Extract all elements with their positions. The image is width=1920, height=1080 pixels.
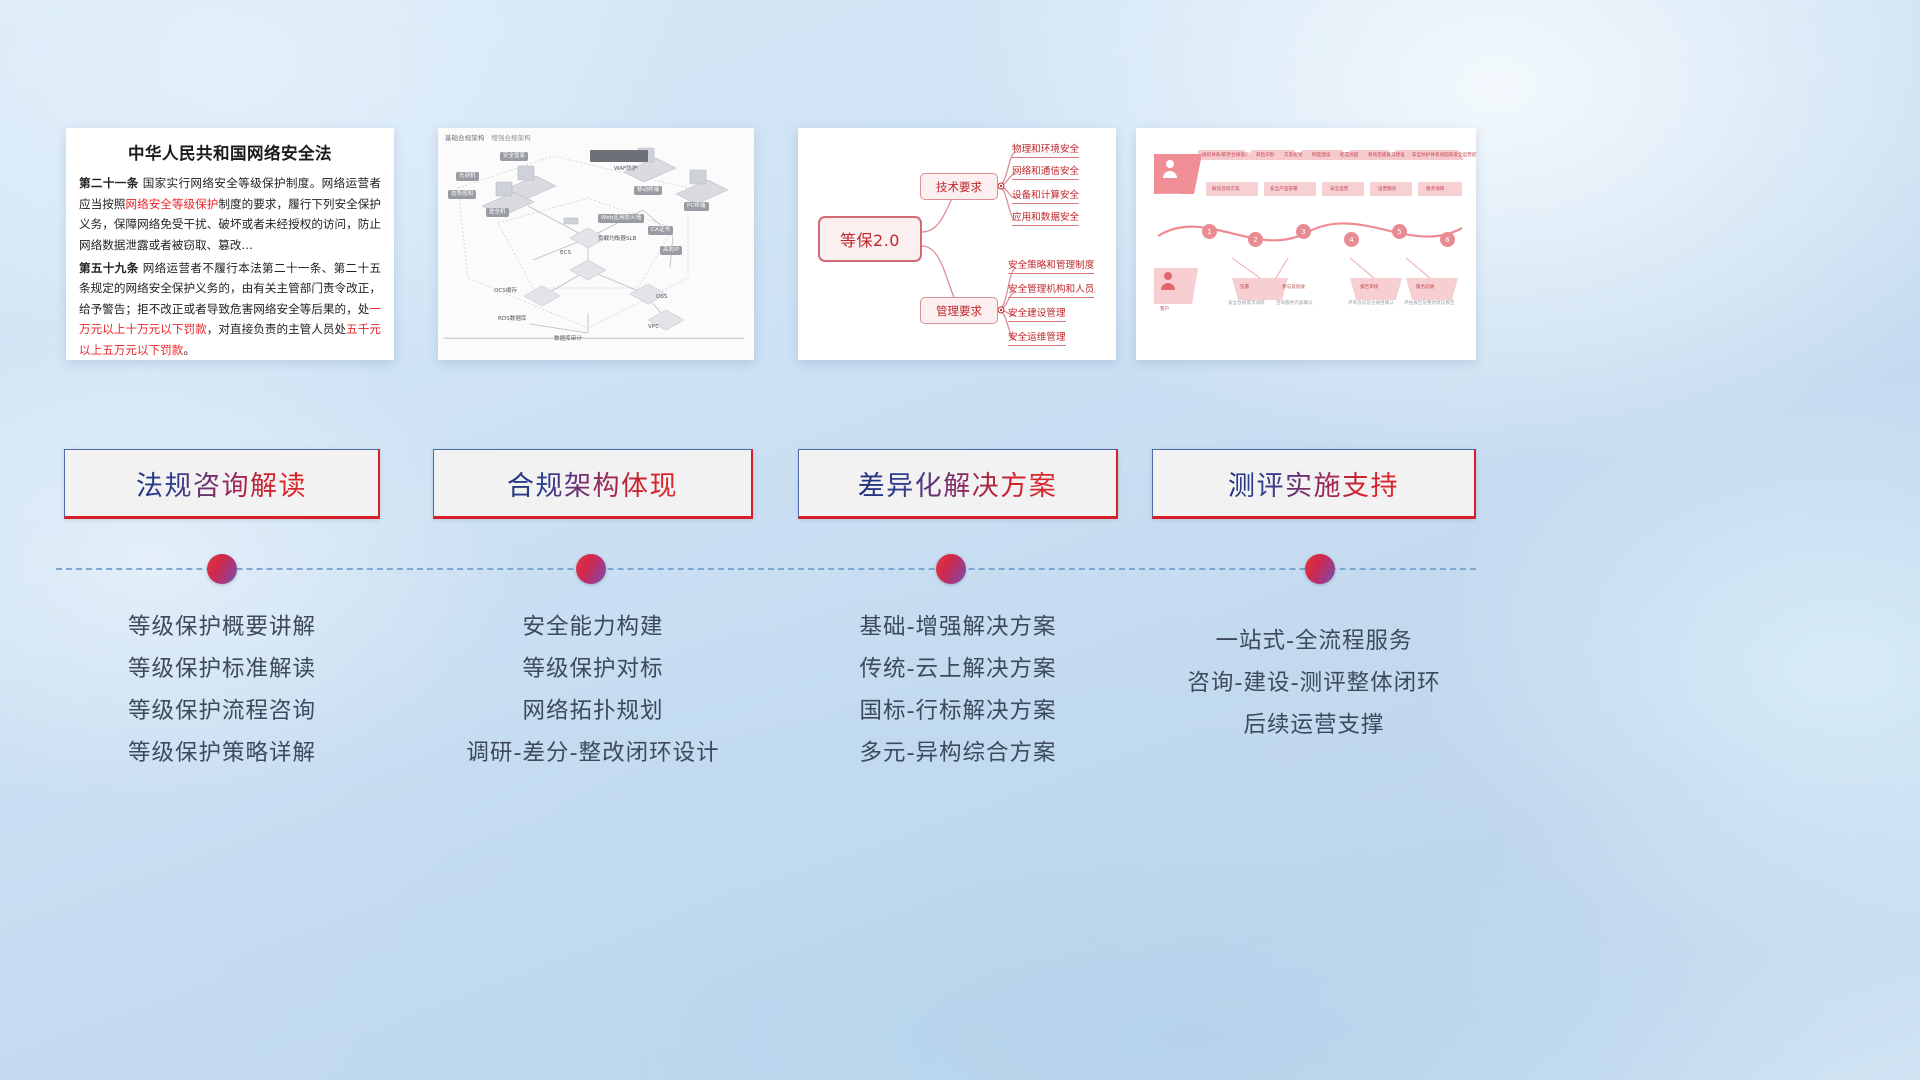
mindmap-leaf-ops: 安全运维管理 <box>1008 332 1066 346</box>
service-timeline: NSFOCUS 安全专家 客户 组织体系/职责合规设计 风险识别 方案规划 制度… <box>1136 128 1476 360</box>
detail-line: 多元-异构综合方案 <box>798 732 1118 774</box>
timeline-chip-0: 组织体系/职责合规设计 <box>1202 152 1250 158</box>
timeline-dot-3[interactable] <box>936 554 966 584</box>
arch-label-ocs: OCS缓存 <box>494 286 517 294</box>
slide-stage: 中华人民共和国网络安全法 第二十一条 国家实行网络安全等级保护制度。网络运营者应… <box>0 0 1920 1080</box>
headline-box-solution[interactable]: 差异化解决方案 <box>798 449 1118 519</box>
timeline-stage-3: 运营服务 <box>1378 186 1396 192</box>
mindmap-branch-technical: 技术要求 <box>920 173 998 200</box>
timeline-bottom-left-3: 咨询服务内容确认 <box>1276 300 1313 306</box>
timeline-chip-5: 系统定级备案建设 <box>1368 152 1405 158</box>
timeline-bottom-left-1: 安全合规需求调研 <box>1228 300 1265 306</box>
timeline-number-3: 3 <box>1296 224 1311 239</box>
timeline-stage-4: 服务保障 <box>1426 186 1444 192</box>
timeline-persona: 客户 <box>1160 306 1169 312</box>
timeline-number-6: 6 <box>1440 232 1455 247</box>
detail-line: 咨询-建设-测评整体闭环 <box>1152 662 1476 704</box>
arch-label-rds: RDS数据库 <box>498 314 527 322</box>
arch-label-vpc: VPC <box>648 324 659 330</box>
timeline-number-4: 4 <box>1344 232 1359 247</box>
law-article-59-label: 第五十九条 <box>79 261 139 275</box>
timeline-rail <box>56 568 1476 570</box>
detail-column-assessment: 一站式-全流程服务 咨询-建设-测评整体闭环 后续运营支撑 <box>1152 620 1476 746</box>
headline-box-architecture[interactable]: 合规架构体现 <box>433 449 753 519</box>
mindmap-leaf-app: 应用和数据安全 <box>1012 212 1079 226</box>
arch-node-waf: Web应用防火墙 <box>598 214 644 223</box>
law-article-59-text-b: ，对直接负责的主管人员处 <box>207 322 346 336</box>
timeline-dot-4[interactable] <box>1305 554 1335 584</box>
timeline-number-1: 1 <box>1202 224 1217 239</box>
timeline-stage-0: 解读咨询方案 <box>1212 186 1240 192</box>
detail-line: 等级保护标准解读 <box>64 648 380 690</box>
detail-line: 等级保护策略详解 <box>64 732 380 774</box>
timeline-chip-6: 安全防护体系加固及安全运营提升 <box>1412 152 1476 158</box>
headline-row: 法规咨询解读 合规架构体现 差异化解决方案 测评实施支持 <box>0 449 1920 519</box>
timeline-bottom-right-1: 评审会议及合规性确认 <box>1348 300 1394 306</box>
timeline-chip-1: 风险识别 <box>1256 152 1274 158</box>
detail-column-regulation: 等级保护概要讲解 等级保护标准解读 等级保护流程咨询 等级保护策略详解 <box>64 606 380 774</box>
law-article-59: 第五十九条 网络运营者不履行本法第二十一条、第二十五条规定的网络安全保护义务的，… <box>79 258 381 361</box>
timeline-bottom-left-0: 签署 <box>1240 284 1249 290</box>
headline-box-assessment[interactable]: 测评实施支持 <box>1152 449 1476 519</box>
detail-line: 基础-增强解决方案 <box>798 606 1118 648</box>
card-compliance-architecture: 基础合规架构 增强合规架构 <box>438 128 754 360</box>
detail-line: 一站式-全流程服务 <box>1152 620 1476 662</box>
mindmap-root: 等保2.0 <box>818 216 922 262</box>
arch-node-bastion: 堡垒机 <box>486 208 509 217</box>
timeline-bottom-right-0: 报告审核 <box>1360 284 1378 290</box>
timeline-brand-line2: 安全专家 <box>1158 202 1176 208</box>
detail-column-solution: 基础-增强解决方案 传统-云上解决方案 国标-行标解决方案 多元-异构综合方案 <box>798 606 1118 774</box>
arch-node-ca: CA证书 <box>648 226 673 235</box>
timeline-number-2: 2 <box>1248 232 1263 247</box>
mindmap-leaf-network: 网络和通信安全 <box>1012 166 1079 180</box>
timeline-dot-1[interactable] <box>207 554 237 584</box>
law-article-21: 第二十一条 国家实行网络安全等级保护制度。网络运营者应当按照网络安全等级保护制度… <box>79 173 381 256</box>
arch-label-slb: 负载均衡器SLB <box>598 234 636 242</box>
law-document: 中华人民共和国网络安全法 第二十一条 国家实行网络安全等级保护制度。网络运营者应… <box>66 128 394 360</box>
architecture-connectors <box>438 128 754 360</box>
arch-node-safemgr: 安全管家 <box>500 152 528 161</box>
law-article-21-label: 第二十一条 <box>79 176 139 190</box>
card-cybersecurity-law: 中华人民共和国网络安全法 第二十一条 国家实行网络安全等级保护制度。网络运营者应… <box>66 128 394 360</box>
headline-label-architecture: 合规架构体现 <box>507 464 678 503</box>
timeline-brand-line1: NSFOCUS <box>1158 194 1180 199</box>
timeline-dot-2[interactable] <box>576 554 606 584</box>
law-article-59-text-c: 。 <box>183 343 195 357</box>
headline-label-assessment: 测评实施支持 <box>1228 464 1399 503</box>
card-service-timeline: NSFOCUS 安全专家 客户 组织体系/职责合规设计 风险识别 方案规划 制度… <box>1136 128 1476 360</box>
timeline-bottom-left-2: 参与及验收 <box>1282 284 1305 290</box>
timeline-chip-4: 配置加固 <box>1340 152 1358 158</box>
architecture-diagram: 基础合规架构 增强合规架构 <box>438 128 754 360</box>
arch-node-mobile: 移动终端 <box>634 186 662 195</box>
timeline-number-5: 5 <box>1392 224 1407 239</box>
detail-line: 传统-云上解决方案 <box>798 648 1118 690</box>
detail-line: 调研-差分-整改闭环设计 <box>433 732 753 774</box>
mindmap-leaf-physical: 物理和环境安全 <box>1012 144 1079 158</box>
image-card-row: 中华人民共和国网络安全法 第二十一条 国家实行网络安全等级保护制度。网络运营者应… <box>0 128 1920 364</box>
arch-label-mobile-2: WAF防护 <box>614 164 637 172</box>
headline-box-regulation[interactable]: 法规咨询解读 <box>64 449 380 519</box>
mindmap-branch-management: 管理要求 <box>920 297 998 324</box>
arch-label-dbaudit: 数据库审计 <box>554 334 582 342</box>
detail-line: 等级保护流程咨询 <box>64 690 380 732</box>
timeline-stage-1: 安全产品部署 <box>1270 186 1298 192</box>
mindmap-leaf-build: 安全建设管理 <box>1008 308 1066 322</box>
timeline-bottom-right-2: 服务验收 <box>1416 284 1434 290</box>
detail-line: 等级保护概要讲解 <box>64 606 380 648</box>
detail-column-architecture: 安全能力构建 等级保护对标 网络拓扑规划 调研-差分-整改闭环设计 <box>433 606 753 774</box>
detail-line: 安全能力构建 <box>433 606 753 648</box>
detail-line: 等级保护对标 <box>433 648 753 690</box>
timeline-chip-3: 制度建设 <box>1312 152 1330 158</box>
mindmap-leaf-policy: 安全策略和管理制度 <box>1008 260 1094 274</box>
headline-label-regulation: 法规咨询解读 <box>136 464 307 503</box>
timeline-chip-2: 方案规划 <box>1284 152 1302 158</box>
detail-line: 网络拓扑规划 <box>433 690 753 732</box>
timeline-bottom-right-3: 评估报告及整改建议报告 <box>1404 300 1455 306</box>
arch-label-ecs: ECS <box>560 250 571 256</box>
arch-node-guanjia: 光刻机 <box>456 172 479 181</box>
arch-node-pc: PC终端 <box>684 202 709 211</box>
mindmap: 等保2.0 技术要求 管理要求 物理和环境安全 网络和通信安全 设备和计算安全 … <box>798 128 1116 360</box>
mindmap-leaf-device: 设备和计算安全 <box>1012 190 1079 204</box>
arch-node-antiddos: 高防IP <box>660 246 682 255</box>
card-mindmap: 等保2.0 技术要求 管理要求 物理和环境安全 网络和通信安全 设备和计算安全 … <box>798 128 1116 360</box>
timeline-graphics <box>1136 128 1476 360</box>
mindmap-leaf-org: 安全管理机构和人员 <box>1008 284 1094 298</box>
detail-line: 后续运营支撑 <box>1152 704 1476 746</box>
timeline-stage-2: 安全运营 <box>1330 186 1348 192</box>
detail-line: 国标-行标解决方案 <box>798 690 1118 732</box>
headline-label-solution: 差异化解决方案 <box>858 464 1058 503</box>
law-title: 中华人民共和国网络安全法 <box>79 140 381 164</box>
law-article-21-highlight: 网络安全等级保护 <box>125 197 218 211</box>
arch-label-oss: OSS <box>656 294 668 300</box>
architecture-header-chip <box>590 150 648 162</box>
arch-node-situation: 态势感知 <box>448 190 476 199</box>
